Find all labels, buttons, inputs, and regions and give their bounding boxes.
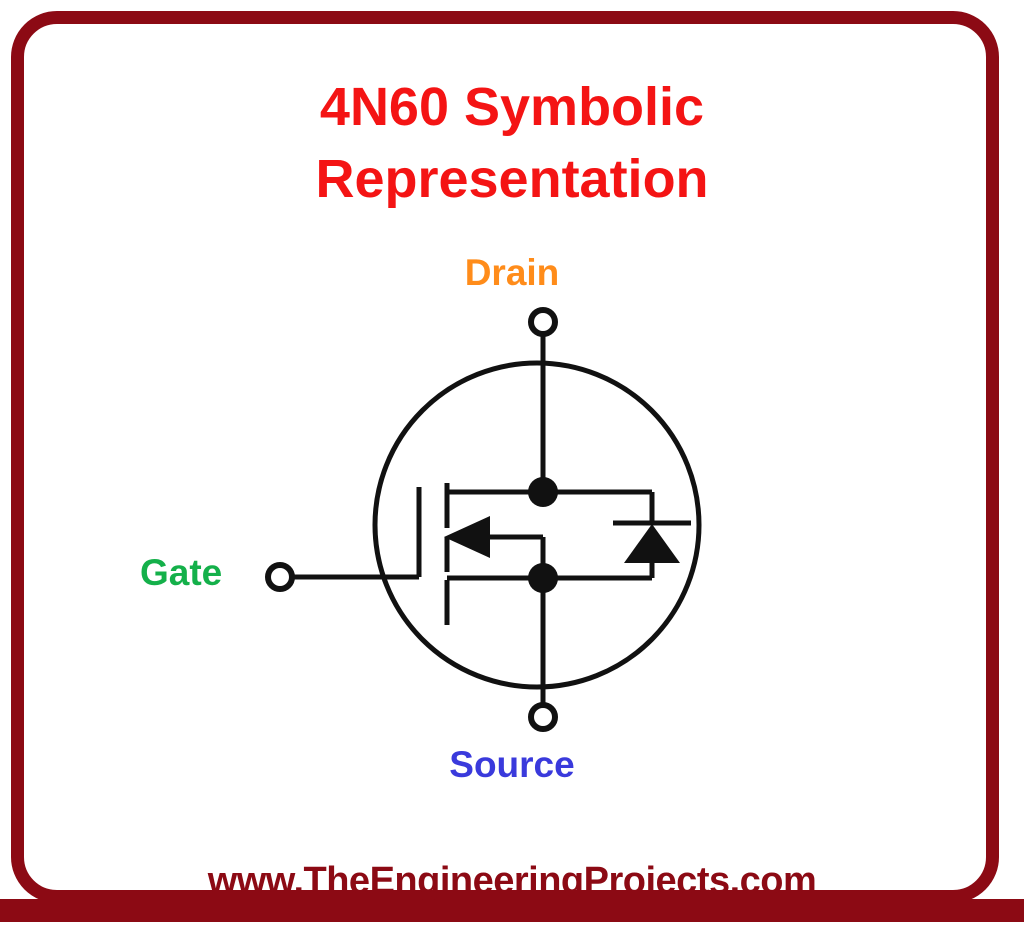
image-canvas: 4N60 Symbolic Representation Drain Gate … xyxy=(0,0,1024,937)
mosfet-schematic xyxy=(0,0,1024,937)
channel-direction-arrow xyxy=(444,516,490,558)
website-footer: www.TheEngineeringProjects.com xyxy=(0,860,1024,903)
drain-junction-dot xyxy=(528,477,558,507)
source-terminal-circle xyxy=(531,705,555,729)
gate-terminal-circle xyxy=(268,565,292,589)
body-diode-triangle xyxy=(624,524,680,563)
source-junction-dot xyxy=(528,563,558,593)
drain-terminal-circle xyxy=(531,310,555,334)
